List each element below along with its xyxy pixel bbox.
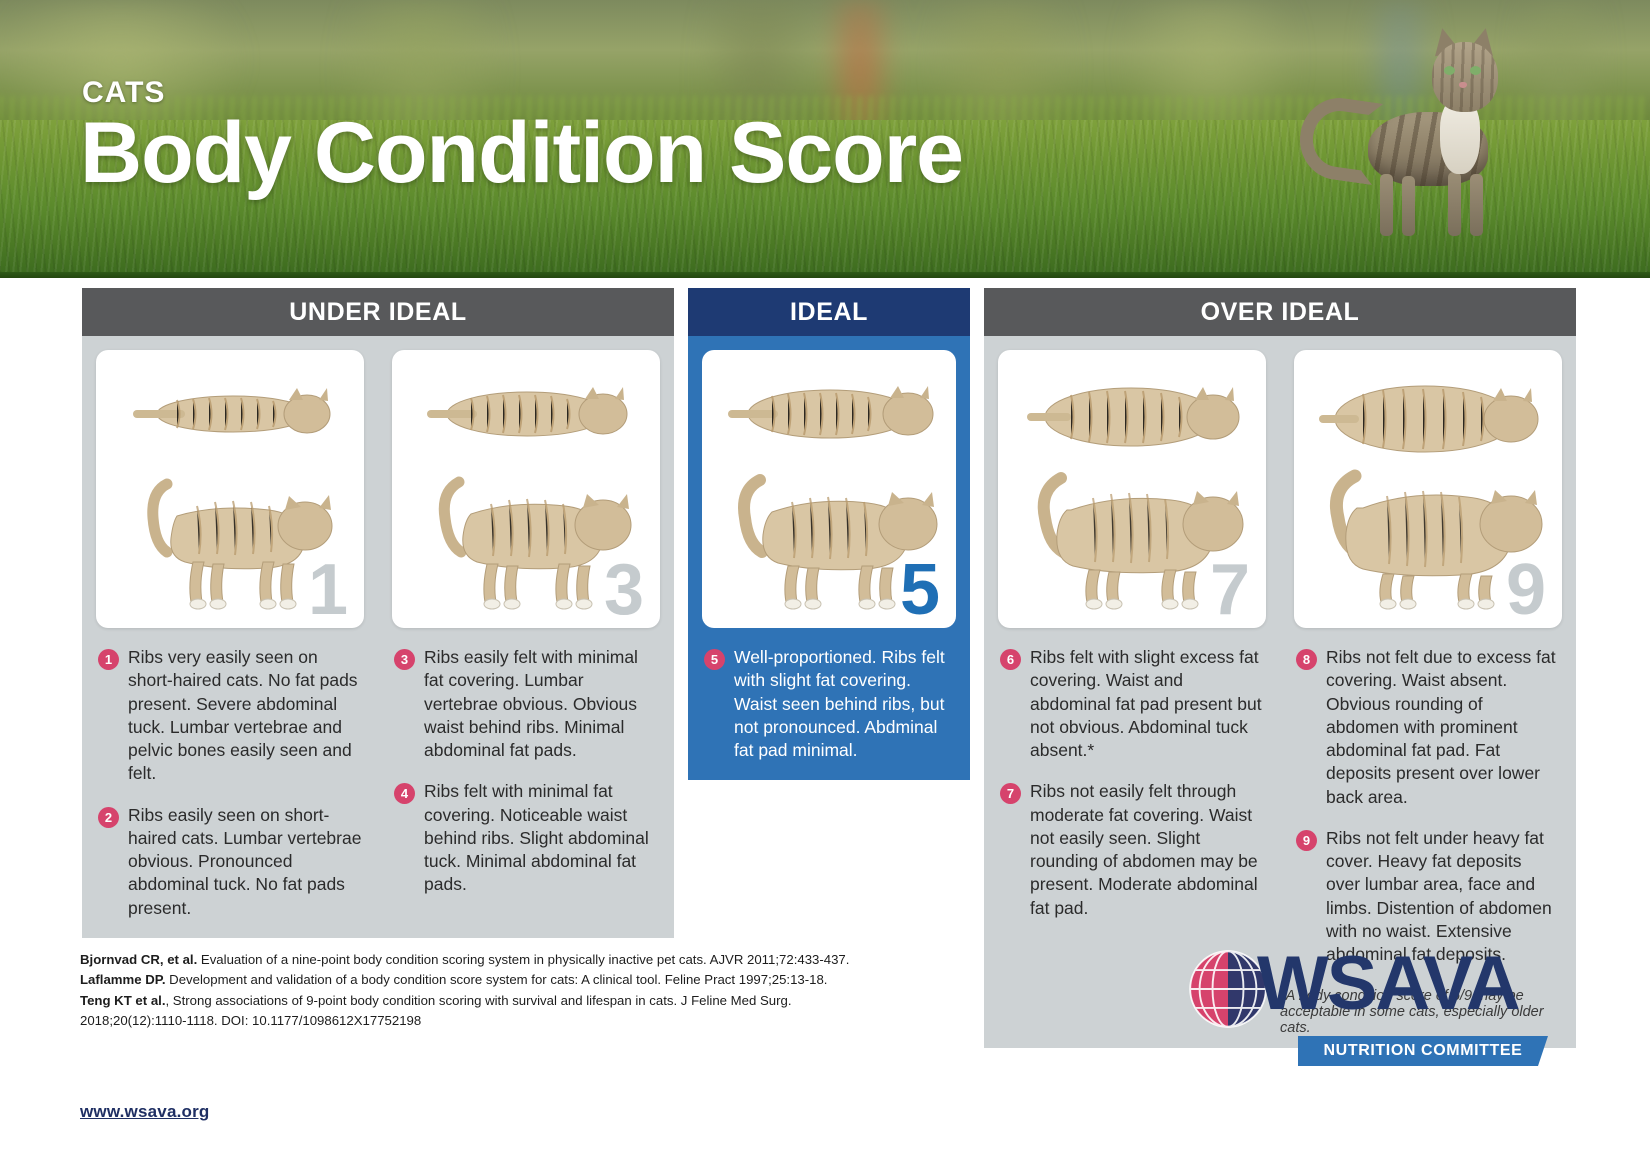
- website-link[interactable]: www.wsava.org: [80, 1102, 210, 1122]
- section-body-ideal: 5 5 Well-proportioned. Ribs felt with sl…: [688, 336, 970, 780]
- reference-authors: Teng KT et al.: [80, 993, 165, 1008]
- section-under-ideal: UNDER IDEAL: [82, 288, 674, 938]
- wsava-wordmark: WSAVA: [1257, 946, 1519, 1022]
- cat-leg: [1380, 174, 1393, 236]
- reference-item: Bjornvad CR, et al. Evaluation of a nine…: [80, 950, 870, 970]
- cat-topview-illustration: [1017, 384, 1247, 450]
- sections-container: UNDER IDEAL: [82, 288, 1590, 948]
- description-list-5: 5 Well-proportioned. Ribs felt with slig…: [702, 628, 956, 780]
- score-description: Ribs not felt due to excess fat covering…: [1326, 646, 1560, 809]
- list-item: 4 Ribs felt with minimal fat covering. N…: [394, 780, 658, 896]
- reference-item: Laflamme DP. Development and validation …: [80, 970, 870, 990]
- score-description: Ribs easily felt with minimal fat coveri…: [424, 646, 658, 762]
- section-header-ideal: IDEAL: [688, 288, 970, 336]
- cat-topview-illustration: [411, 384, 641, 444]
- score-column-1: 1 1 Ribs very easily seen on short-haire…: [82, 350, 378, 938]
- score-description: Well-proportioned. Ribs felt with slight…: [734, 646, 954, 762]
- score-column-3: 3 3 Ribs easily felt with minimal fat co…: [378, 350, 674, 938]
- score-number: 3: [604, 554, 644, 626]
- reference-citation: Development and validation of a body con…: [166, 972, 828, 987]
- list-item: 2 Ribs easily seen on short-haired cats.…: [98, 804, 362, 920]
- score-badge: 1: [98, 649, 119, 670]
- score-card-9[interactable]: 9: [1294, 350, 1562, 628]
- reference-authors: Laflamme DP.: [80, 972, 166, 987]
- score-badge: 2: [98, 807, 119, 828]
- score-description: Ribs easily seen on short-haired cats. L…: [128, 804, 362, 920]
- wsava-logo: WSAVA NUTRITION COMMITTEE: [1185, 940, 1545, 1080]
- list-item: 3 Ribs easily felt with minimal fat cove…: [394, 646, 658, 762]
- score-badge: 4: [394, 783, 415, 804]
- score-badge: 8: [1296, 649, 1317, 670]
- cat-nose: [1459, 82, 1467, 88]
- header-banner: CATS Body Condition Score: [0, 0, 1650, 278]
- score-column-9: 9 8 Ribs not felt due to excess fat cove…: [1280, 350, 1576, 984]
- score-number: 1: [308, 554, 348, 626]
- page-title: Body Condition Score: [80, 110, 963, 196]
- section-body-under-ideal: 1 1 Ribs very easily seen on short-haire…: [82, 336, 674, 938]
- score-card-7[interactable]: 7: [998, 350, 1266, 628]
- description-list-3: 3 Ribs easily felt with minimal fat cove…: [392, 628, 660, 915]
- cat-leg: [1448, 172, 1461, 236]
- score-badge: 3: [394, 649, 415, 670]
- cat-leg: [1402, 176, 1415, 236]
- score-description: Ribs not easily felt through moderate fa…: [1030, 780, 1264, 920]
- list-item: 7 Ribs not easily felt through moderate …: [1000, 780, 1264, 920]
- cat-eye: [1470, 66, 1481, 75]
- reference-item: Teng KT et al., Strong associations of 9…: [80, 991, 870, 1032]
- section-over-ideal: OVER IDEAL: [984, 288, 1576, 1048]
- cat-head: [1432, 42, 1498, 112]
- score-badge: 9: [1296, 830, 1317, 851]
- list-item: 1 Ribs very easily seen on short-haired …: [98, 646, 362, 786]
- references-block: Bjornvad CR, et al. Evaluation of a nine…: [80, 950, 870, 1032]
- score-badge: 6: [1000, 649, 1021, 670]
- score-description: Ribs felt with minimal fat covering. Not…: [424, 780, 658, 896]
- score-number: 7: [1210, 554, 1250, 626]
- section-ideal: IDEAL: [688, 288, 970, 780]
- description-list-1: 1 Ribs very easily seen on short-haired …: [96, 628, 364, 938]
- score-column-5: 5 5 Well-proportioned. Ribs felt with sl…: [688, 350, 970, 780]
- score-badge: 5: [704, 649, 725, 670]
- section-header-under-ideal: UNDER IDEAL: [82, 288, 674, 336]
- list-item: 5 Well-proportioned. Ribs felt with slig…: [704, 646, 954, 762]
- description-list-9: 8 Ribs not felt due to excess fat coveri…: [1294, 628, 1562, 984]
- reference-authors: Bjornvad CR, et al.: [80, 952, 197, 967]
- tabby-cat-photo: [1336, 14, 1566, 246]
- cat-topview-illustration: [115, 384, 345, 444]
- cat-topview-illustration: [714, 384, 944, 444]
- section-header-over-ideal: OVER IDEAL: [984, 288, 1576, 336]
- score-badge: 7: [1000, 783, 1021, 804]
- score-card-1[interactable]: 1: [96, 350, 364, 628]
- score-column-7: 7 6 Ribs felt with slight excess fat cov…: [984, 350, 1280, 984]
- banner-bottom-edge: [0, 272, 1650, 278]
- score-number: 5: [900, 554, 940, 626]
- cat-leg: [1470, 174, 1483, 236]
- score-card-5[interactable]: 5: [702, 350, 956, 628]
- reference-citation: , Strong associations of 9-point body co…: [80, 993, 792, 1028]
- score-description: Ribs very easily seen on short-haired ca…: [128, 646, 362, 786]
- score-description: Ribs felt with slight excess fat coverin…: [1030, 646, 1264, 762]
- cat-topview-illustration: [1313, 384, 1543, 454]
- reference-citation: Evaluation of a nine-point body conditio…: [197, 952, 849, 967]
- list-item: 8 Ribs not felt due to excess fat coveri…: [1296, 646, 1560, 809]
- description-list-7: 6 Ribs felt with slight excess fat cover…: [998, 628, 1266, 938]
- nutrition-committee-banner: NUTRITION COMMITTEE: [1298, 1036, 1548, 1066]
- list-item: 6 Ribs felt with slight excess fat cover…: [1000, 646, 1264, 762]
- cat-eye: [1444, 66, 1455, 75]
- score-card-3[interactable]: 3: [392, 350, 660, 628]
- score-number: 9: [1506, 554, 1546, 626]
